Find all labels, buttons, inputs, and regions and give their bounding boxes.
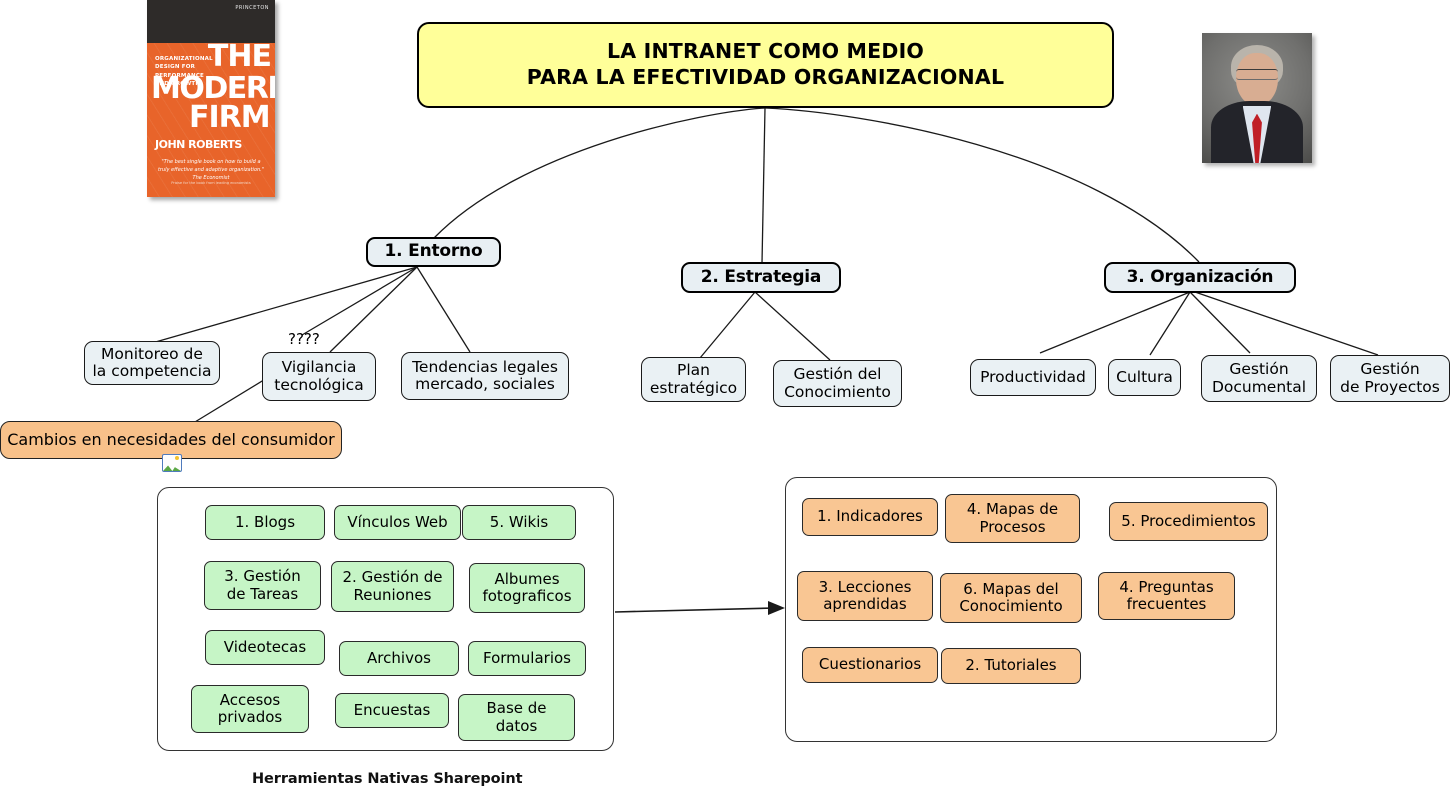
root-title-line1: LA INTRANET COMO MEDIO [607,39,924,65]
root-title-line2: PARA LA EFECTIVIDAD ORGANIZACIONAL [527,65,1004,91]
chip-gestion-tareas[interactable]: 3. Gestión de Tareas [204,561,321,610]
chip-gestion-reuniones[interactable]: 2. Gestión de Reuniones [331,561,454,612]
picture-attachment-icon[interactable] [162,454,182,472]
book-title-part2: MODERN [151,75,275,104]
chip-indicadores[interactable]: 1. Indicadores [802,498,938,536]
leaf-productividad[interactable]: Productividad [970,359,1096,396]
chip-tutoriales[interactable]: 2. Tutoriales [941,648,1081,684]
branch-node-organizacion[interactable]: 3. Organización [1104,262,1296,293]
leaf-gestion-conocimiento[interactable]: Gestión del Conocimiento [773,360,902,407]
chip-mapas-conocimiento[interactable]: 6. Mapas del Conocimiento [940,573,1082,623]
book-author: JOHN ROBERTS [155,138,242,151]
chip-mapas-procesos[interactable]: 4. Mapas de Procesos [945,494,1080,543]
leaf-plan-estrategico[interactable]: Plan estratégico [641,357,746,402]
panel-sharepoint-caption: Herramientas Nativas Sharepoint [252,771,522,787]
book-blurb: "The best single book on how to build a … [155,158,267,182]
chip-vinculos-web[interactable]: Vínculos Web [334,505,461,540]
chip-encuestas[interactable]: Encuestas [335,693,449,728]
leaf-gestion-proyectos[interactable]: Gestión de Proyectos [1330,355,1450,402]
chip-accesos-privados[interactable]: Accesos privados [191,685,309,733]
panel-connector-arrow [615,601,785,615]
chip-cuestionarios[interactable]: Cuestionarios [802,647,938,683]
chip-archivos[interactable]: Archivos [339,641,459,676]
book-cover-image: PRINCETON ORGANIZATIONAL DESIGN FOR PERF… [147,0,275,197]
leaf-cultura[interactable]: Cultura [1108,359,1181,396]
chip-formularios[interactable]: Formularios [468,641,586,676]
chip-blogs[interactable]: 1. Blogs [205,505,325,540]
branch-node-estrategia[interactable]: 2. Estrategia [681,262,841,293]
picture-icon-sun [175,456,179,460]
leaf-monitoreo-competencia[interactable]: Monitoreo de la competencia [84,341,220,385]
chip-videotecas[interactable]: Videotecas [205,630,325,665]
book-title-part3: FIRM [189,104,270,133]
book-blurb-credit: Praise for the book from leading economi… [155,181,267,185]
portrait-photo [1202,33,1312,163]
branch-node-entorno[interactable]: 1. Entorno [366,237,501,267]
leaf-gestion-documental[interactable]: Gestión Documental [1201,355,1317,402]
glasses-icon [1236,69,1278,80]
root-node[interactable]: LA INTRANET COMO MEDIO PARA LA EFECTIVID… [417,22,1114,108]
book-title-part1: THE [208,43,271,72]
leaf-vigilancia-tecnologica[interactable]: Vigilancia tecnológica [262,352,376,401]
chip-preguntas-frecuentes[interactable]: 4. Preguntas frecuentes [1098,572,1235,620]
leaf-tendencias-legales[interactable]: Tendencias legales mercado, sociales [401,352,569,400]
chip-wikis[interactable]: 5. Wikis [462,505,576,540]
book-publisher: PRINCETON [235,5,269,11]
unlabeled-marker: ???? [288,330,320,348]
chip-albumes-fotograficos[interactable]: Albumes fotograficos [469,563,585,613]
chip-procedimientos[interactable]: 5. Procedimientos [1109,502,1268,541]
chip-base-de-datos[interactable]: Base de datos [458,694,575,741]
chip-lecciones-aprendidas[interactable]: 3. Lecciones aprendidas [797,571,933,621]
